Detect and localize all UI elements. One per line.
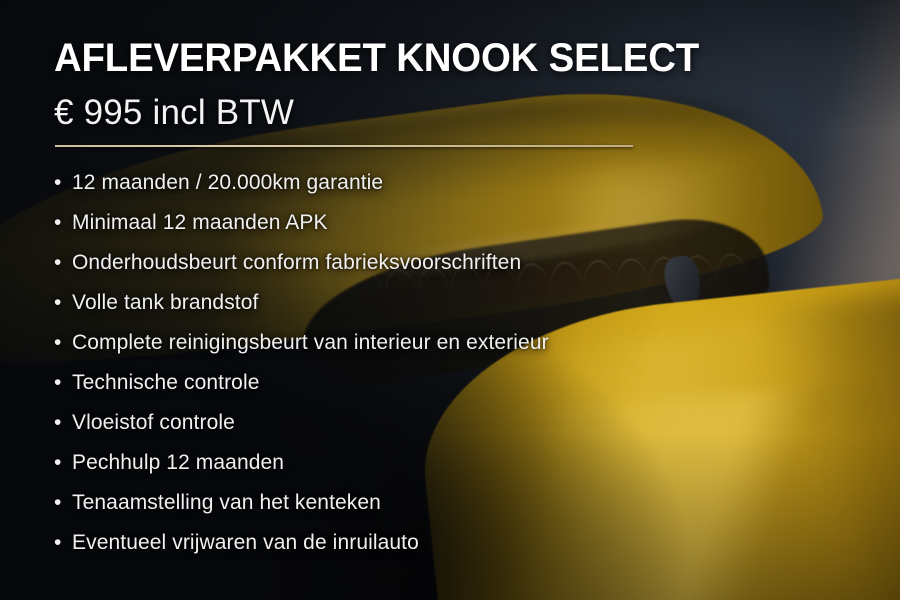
bullet-icon: • xyxy=(54,523,72,563)
bullet-icon: • xyxy=(54,363,72,403)
bullet-icon: • xyxy=(54,203,72,243)
feature-label: Eventueel vrijwaren van de inruilauto xyxy=(72,523,419,563)
package-price: € 995 incl BTW xyxy=(54,93,294,133)
feature-label: 12 maanden / 20.000km garantie xyxy=(72,163,383,203)
feature-label: Pechhulp 12 maanden xyxy=(72,443,284,483)
package-title: AFLEVERPAKKET KNOOK SELECT xyxy=(54,36,699,80)
promo-card: AFLEVERPAKKET KNOOK SELECT € 995 incl BT… xyxy=(0,0,900,600)
feature-list-item: •Pechhulp 12 maanden xyxy=(54,443,549,483)
feature-label: Onderhoudsbeurt conform fabrieksvoorschr… xyxy=(72,243,521,283)
feature-list-item: •Tenaamstelling van het kenteken xyxy=(54,483,549,523)
bullet-icon: • xyxy=(54,323,72,363)
feature-list-item: •Complete reinigingsbeurt van interieur … xyxy=(54,323,549,363)
card-content: AFLEVERPAKKET KNOOK SELECT € 995 incl BT… xyxy=(0,0,900,600)
feature-list-item: •Minimaal 12 maanden APK xyxy=(54,203,549,243)
feature-label: Volle tank brandstof xyxy=(72,283,258,323)
title-divider xyxy=(55,145,633,147)
bullet-icon: • xyxy=(54,443,72,483)
feature-list-item: •Technische controle xyxy=(54,363,549,403)
feature-label: Complete reinigingsbeurt van interieur e… xyxy=(72,323,549,363)
feature-list-item: •Onderhoudsbeurt conform fabrieksvoorsch… xyxy=(54,243,549,283)
feature-label: Minimaal 12 maanden APK xyxy=(72,203,328,243)
bullet-icon: • xyxy=(54,483,72,523)
feature-label: Technische controle xyxy=(72,363,260,403)
feature-list-item: •Volle tank brandstof xyxy=(54,283,549,323)
feature-list: •12 maanden / 20.000km garantie•Minimaal… xyxy=(54,163,549,563)
feature-list-item: •Eventueel vrijwaren van de inruilauto xyxy=(54,523,549,563)
bullet-icon: • xyxy=(54,163,72,203)
bullet-icon: • xyxy=(54,403,72,443)
bullet-icon: • xyxy=(54,283,72,323)
feature-label: Vloeistof controle xyxy=(72,403,235,443)
bullet-icon: • xyxy=(54,243,72,283)
feature-list-item: •Vloeistof controle xyxy=(54,403,549,443)
feature-label: Tenaamstelling van het kenteken xyxy=(72,483,381,523)
feature-list-item: •12 maanden / 20.000km garantie xyxy=(54,163,549,203)
